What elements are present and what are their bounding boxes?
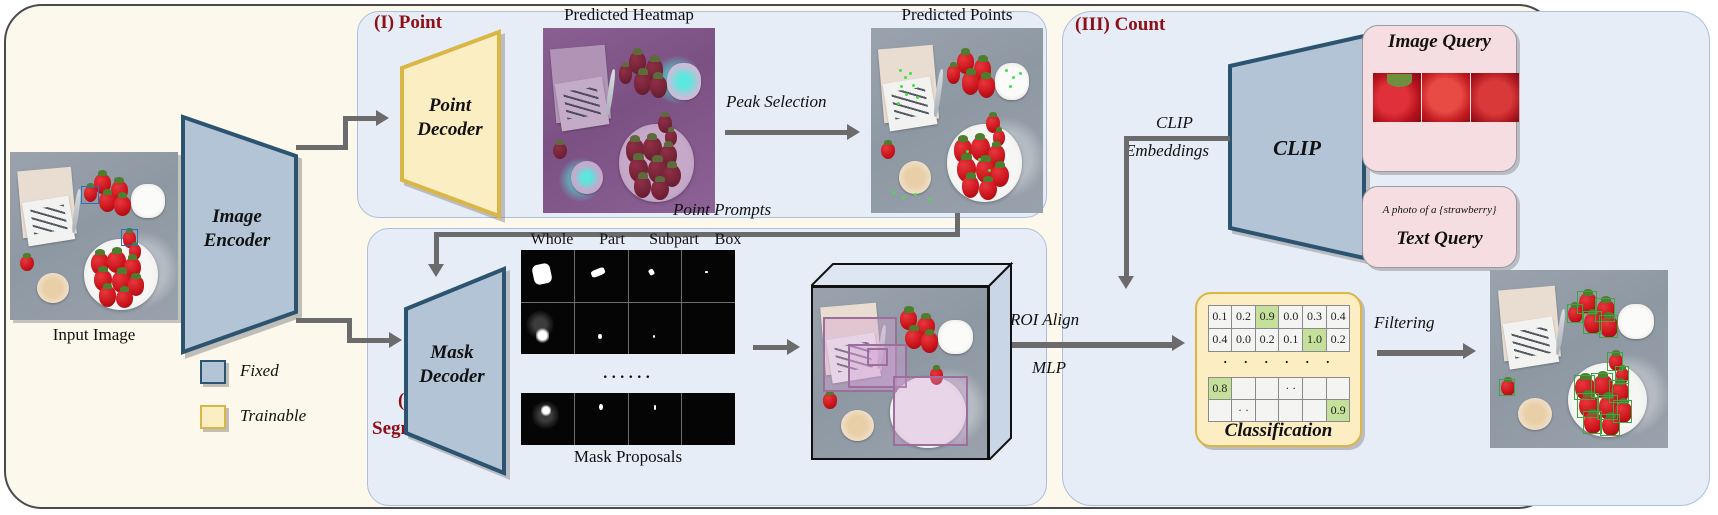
input-image bbox=[10, 152, 178, 320]
mask-proposals-grid-bottom bbox=[521, 393, 735, 445]
point-prompts-label: Point Prompts bbox=[673, 200, 771, 220]
image-encoder-label-line2: Encoder bbox=[178, 231, 296, 251]
matrix-cell bbox=[1302, 399, 1327, 422]
heatmap-photo bbox=[543, 28, 715, 213]
filtering-label: Filtering bbox=[1374, 313, 1434, 333]
mask-cell bbox=[682, 393, 735, 445]
legend-swatch-fixed bbox=[200, 360, 226, 384]
predicted-points-caption: Predicted Points bbox=[871, 5, 1043, 25]
mask-cell bbox=[575, 303, 628, 355]
roi-box bbox=[867, 348, 888, 367]
matrix-cell: 0.8 bbox=[1208, 377, 1233, 400]
connector-prompts-down bbox=[434, 232, 439, 266]
mask-column-header-whole: Whole bbox=[521, 231, 583, 249]
text-query-card bbox=[1362, 186, 1517, 268]
roi-box bbox=[893, 376, 968, 446]
mlp-label: MLP bbox=[1032, 358, 1066, 378]
mask-cell bbox=[575, 393, 628, 445]
mask-column-header-part: Part bbox=[581, 231, 643, 249]
arrowhead-grid-to-cube bbox=[787, 339, 800, 355]
image-query-thumb-2 bbox=[1422, 73, 1470, 122]
mask-grid-ellipsis: ...... bbox=[521, 358, 735, 384]
mask-decoder-module: Mask Decoder bbox=[396, 265, 508, 473]
mask-cell bbox=[521, 393, 574, 445]
classification-matrix-top: 0.1 0.2 0.9 0.0 0.3 0.4 0.4 0.0 0.2 0.1 … bbox=[1208, 305, 1350, 351]
mask-cell bbox=[521, 250, 574, 302]
input-photo bbox=[10, 152, 178, 320]
predicted-points-image bbox=[871, 28, 1043, 213]
roi-feature-cube bbox=[811, 242, 1029, 460]
mask-cell bbox=[682, 250, 735, 302]
mask-proposals-caption: Mask Proposals bbox=[521, 447, 735, 467]
arrowhead-filtering bbox=[1463, 343, 1476, 359]
legend-label-trainable: Trainable bbox=[240, 406, 306, 426]
matrix-cell: 0.0 bbox=[1231, 328, 1256, 352]
connector-encoder-to-point-h2 bbox=[343, 116, 376, 121]
cube-photo bbox=[813, 288, 987, 458]
clip-label: CLIP bbox=[1224, 137, 1370, 159]
arrowhead-peak-selection bbox=[847, 124, 860, 140]
predicted-heatmap-image bbox=[543, 28, 715, 213]
connector-peak-selection bbox=[725, 130, 847, 135]
matrix-cell bbox=[1208, 399, 1233, 422]
architecture-diagram: Input Image Fixed Trainable Image Encode… bbox=[0, 0, 1718, 515]
connector-encoder-to-mask-h2 bbox=[347, 338, 389, 343]
connector-encoder-to-mask bbox=[296, 318, 352, 323]
peak-selection-label: Peak Selection bbox=[726, 92, 827, 112]
classification-ellipsis: · · · · · · bbox=[1208, 352, 1350, 373]
connector-roi-to-classification bbox=[1012, 342, 1172, 348]
final-output-image bbox=[1490, 270, 1668, 448]
image-encoder-label-line1: Image bbox=[178, 207, 296, 227]
matrix-cell: 0.2 bbox=[1326, 328, 1351, 352]
matrix-cell: 0.2 bbox=[1255, 328, 1280, 352]
connector-clip-to-matrix-v bbox=[1124, 136, 1129, 278]
matrix-cell bbox=[1302, 377, 1327, 400]
mask-proposals-grid-top bbox=[521, 250, 735, 354]
image-query-thumb-3 bbox=[1471, 73, 1519, 122]
connector-encoder-to-point-v bbox=[343, 116, 348, 150]
connector-grid-to-cube bbox=[753, 345, 787, 350]
matrix-cell: 0.9 bbox=[1326, 399, 1351, 422]
classification-matrix-bottom: 0.8 · · · · 0.9 bbox=[1208, 377, 1350, 421]
cube-front-face bbox=[811, 286, 989, 460]
clip-embeddings-label-line1: CLIP bbox=[1156, 113, 1193, 133]
matrix-cell: 0.4 bbox=[1208, 328, 1233, 352]
image-encoder-module: Image Encoder bbox=[178, 112, 296, 352]
matrix-cell: 0.2 bbox=[1231, 305, 1256, 329]
legend-swatch-trainable bbox=[200, 405, 226, 429]
classification-title: Classification bbox=[1195, 420, 1362, 442]
stage-label-count: (III) Count bbox=[1075, 14, 1165, 36]
mask-cell bbox=[629, 250, 682, 302]
matrix-cell bbox=[1255, 377, 1280, 400]
arrowhead-clip-to-matrix bbox=[1118, 276, 1134, 289]
matrix-cell bbox=[1255, 399, 1280, 422]
arrowhead-roi-to-classification bbox=[1172, 335, 1185, 351]
text-query-title: Text Query bbox=[1362, 228, 1517, 250]
point-decoder-label-line1: Point bbox=[396, 96, 504, 116]
image-query-thumb-1 bbox=[1373, 73, 1421, 122]
input-image-caption: Input Image bbox=[10, 325, 178, 345]
matrix-cell bbox=[1326, 377, 1351, 400]
clip-module: CLIP bbox=[1224, 32, 1370, 257]
matrix-cell bbox=[1231, 377, 1256, 400]
matrix-cell: 0.0 bbox=[1278, 305, 1303, 329]
connector-filtering bbox=[1377, 350, 1463, 356]
connector-clip-to-matrix-h bbox=[1124, 136, 1230, 141]
point-decoder-label-line2: Decoder bbox=[396, 120, 504, 140]
mask-decoder-label-line1: Mask bbox=[396, 343, 508, 363]
point-decoder-module: Point Decoder bbox=[396, 28, 504, 214]
legend-label-fixed: Fixed bbox=[240, 361, 279, 381]
mask-cell bbox=[521, 303, 574, 355]
matrix-cell: 1.0 bbox=[1302, 328, 1327, 352]
arrowhead-to-point-decoder bbox=[376, 110, 389, 126]
matrix-cell: · · bbox=[1231, 399, 1256, 422]
mask-cell bbox=[629, 303, 682, 355]
matrix-cell: 0.3 bbox=[1302, 305, 1327, 329]
final-output-photo bbox=[1490, 270, 1668, 448]
text-query-prompt: A photo of a {strawberry} bbox=[1362, 204, 1517, 216]
connector-encoder-to-point bbox=[296, 145, 348, 150]
predicted-heatmap-caption: Predicted Heatmap bbox=[543, 5, 715, 25]
mask-decoder-label-line2: Decoder bbox=[396, 367, 508, 387]
mask-cell bbox=[629, 393, 682, 445]
matrix-cell: 0.4 bbox=[1326, 305, 1351, 329]
predicted-points-photo bbox=[871, 28, 1043, 213]
matrix-cell bbox=[1278, 399, 1303, 422]
image-query-title: Image Query bbox=[1362, 31, 1517, 53]
mask-column-header-subpart: Subpart bbox=[640, 231, 708, 249]
mask-cell bbox=[575, 250, 628, 302]
matrix-cell: · · bbox=[1278, 377, 1303, 400]
mask-column-header-box: Box bbox=[703, 231, 753, 249]
clip-embeddings-label-line2: Embeddings bbox=[1125, 141, 1209, 161]
roi-align-label: ROI Align bbox=[1010, 310, 1079, 330]
matrix-cell: 0.1 bbox=[1278, 328, 1303, 352]
matrix-cell: 0.1 bbox=[1208, 305, 1233, 329]
mask-cell bbox=[682, 303, 735, 355]
matrix-cell: 0.9 bbox=[1255, 305, 1280, 329]
